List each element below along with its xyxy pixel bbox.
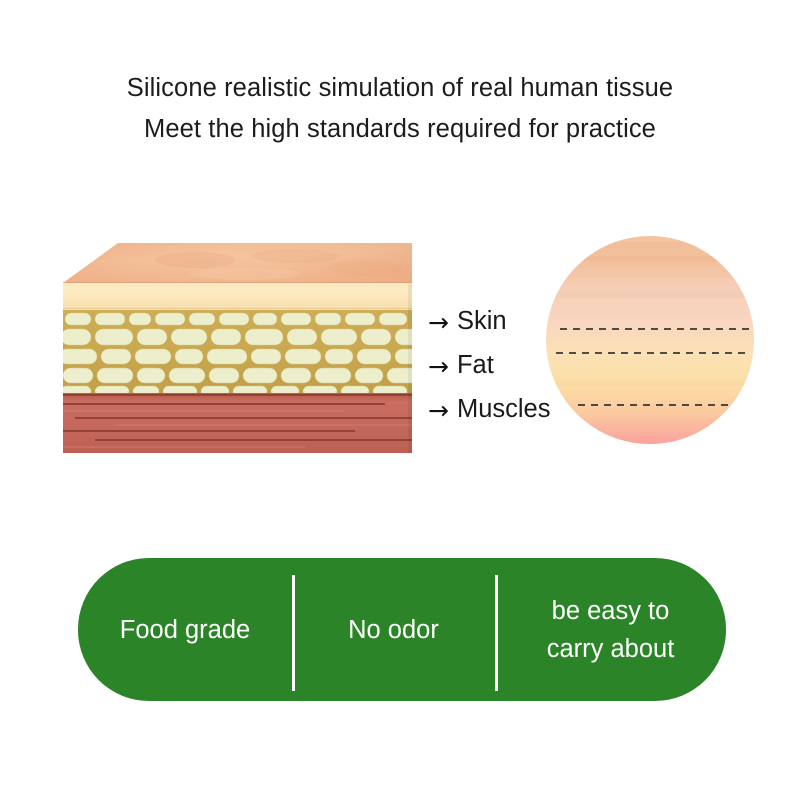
skin-top-surface: [63, 243, 412, 283]
skin-layer-face: [63, 283, 412, 310]
feature-divider: [292, 575, 295, 691]
layer-label-text: Skin: [457, 309, 507, 335]
feature-divider: [495, 575, 498, 691]
arrow-right-icon: →: [428, 354, 449, 379]
arrow-right-icon: →: [428, 398, 449, 423]
feature-label: be easy to carry about: [547, 592, 675, 668]
headline-line-1: Silicone realistic simulation of real hu…: [0, 68, 800, 109]
feature-easy-to-carry[interactable]: be easy to carry about: [495, 558, 726, 701]
muscle-layer-face: [63, 393, 412, 453]
promo-page: Silicone realistic simulation of real hu…: [0, 0, 800, 800]
feature-no-odor[interactable]: No odor: [292, 558, 495, 701]
layer-label-text: Muscles: [457, 397, 551, 423]
feature-label: No odor: [348, 611, 439, 649]
feature-food-grade[interactable]: Food grade: [78, 558, 292, 701]
headline-line-2: Meet the high standards required for pra…: [0, 109, 800, 150]
tissue-cross-section-circle: [546, 230, 754, 448]
page-title: Silicone realistic simulation of real hu…: [0, 68, 800, 150]
arrow-right-icon: →: [428, 310, 449, 335]
fat-layer-face: [59, 310, 421, 397]
feature-label: Food grade: [120, 611, 250, 649]
feature-banner: Food grade No odor be easy to carry abou…: [78, 558, 726, 701]
tissue-block-illustration: [55, 228, 425, 468]
layer-label-text: Fat: [457, 353, 494, 379]
